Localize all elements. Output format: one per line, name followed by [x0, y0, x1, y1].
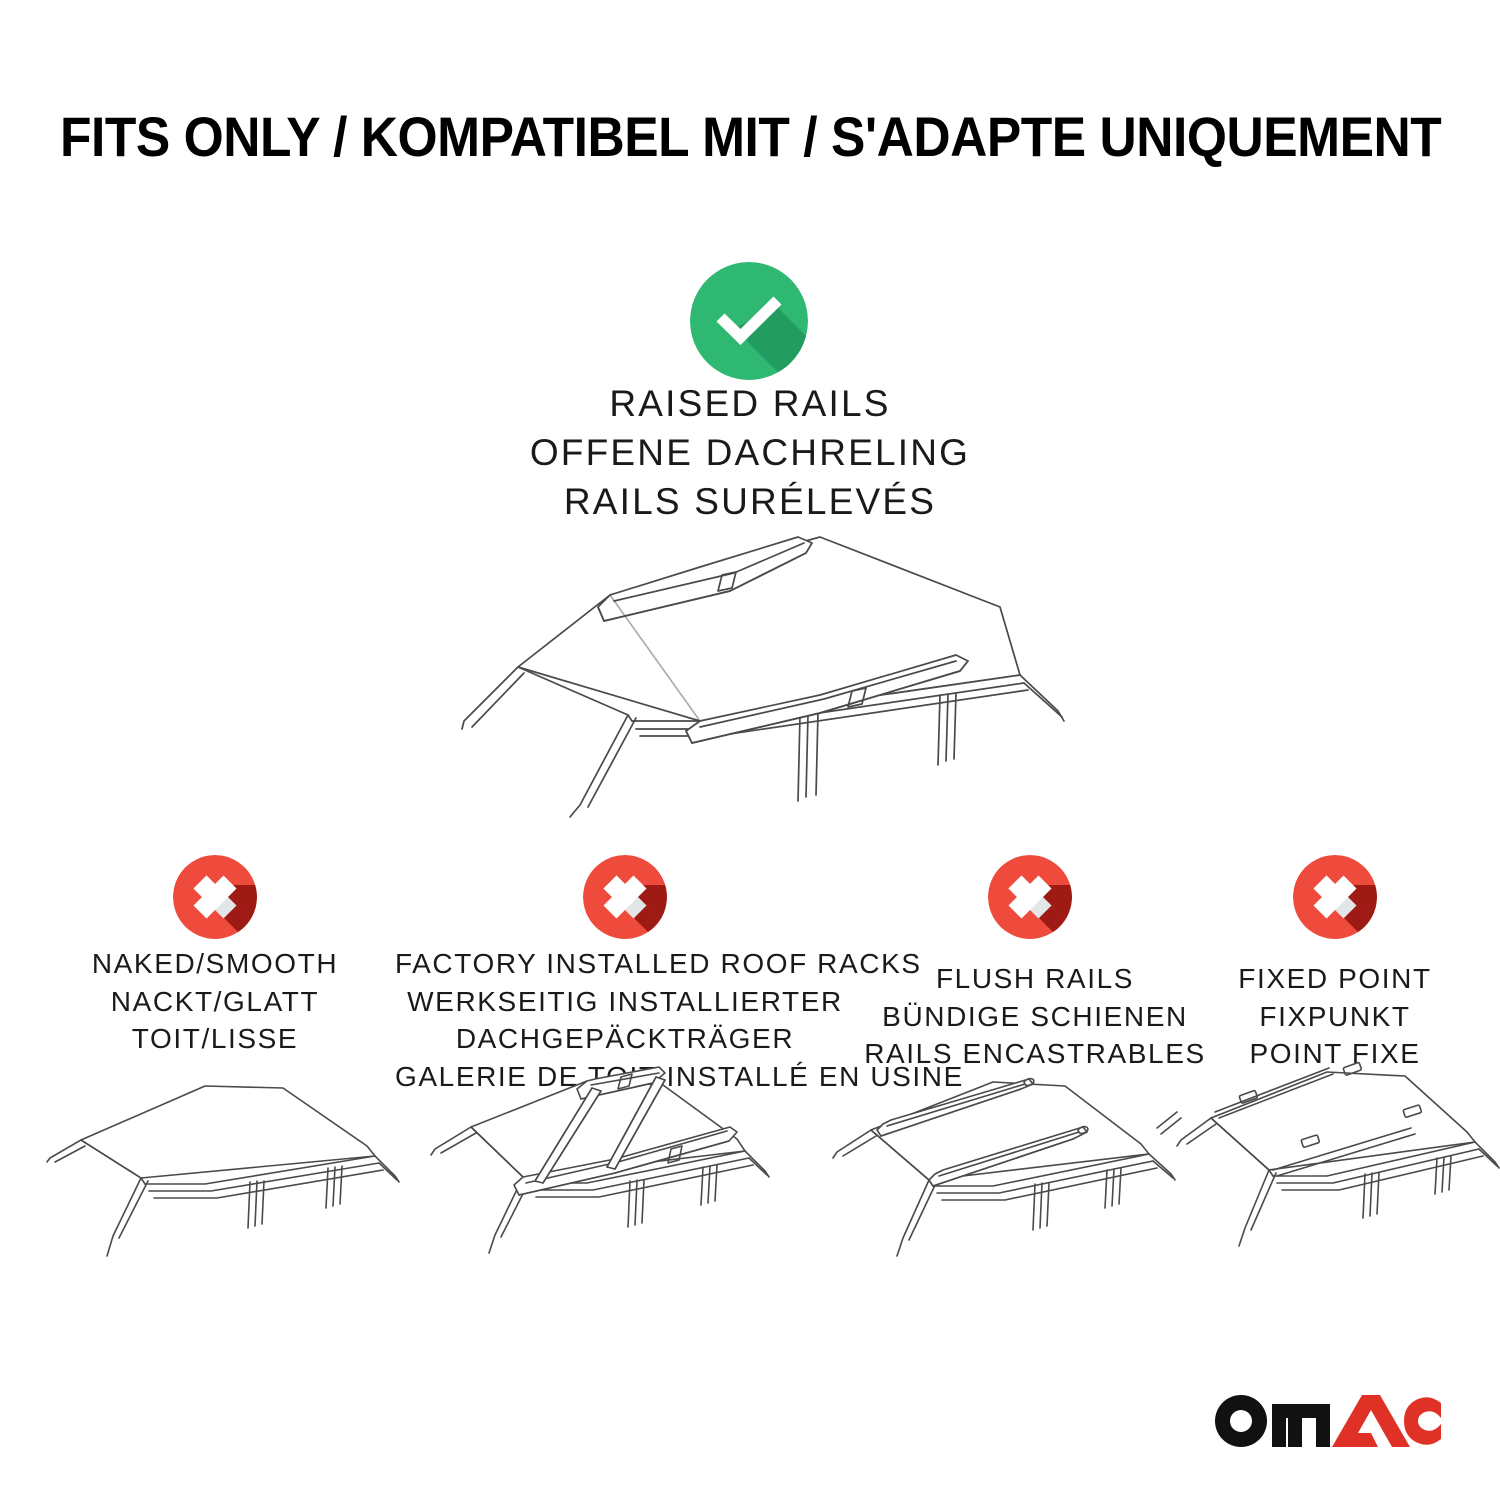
cross-circle-icon: [173, 855, 257, 939]
page-title: FITS ONLY / KOMPATIBEL MIT / S'ADAPTE UN…: [60, 104, 1440, 169]
check-circle-icon: [690, 262, 808, 380]
car-roof-flush-rails-illustration: [825, 1060, 1195, 1300]
compatible-option-label: RAISED RAILS OFFENE DACHRELING RAILS SUR…: [250, 380, 1250, 526]
omac-logo: [1210, 1386, 1442, 1448]
label-line: DACHGEPÄCKTRÄGER: [395, 1020, 855, 1058]
car-roof-fixed-point-illustration: [1175, 1060, 1500, 1300]
compatible-label-line-1: RAISED RAILS: [250, 380, 1250, 429]
check-circle-glyph: [690, 262, 808, 380]
incompatible-option-label-naked-smooth: NAKED/SMOOTH NACKT/GLATT TOIT/LISSE: [15, 945, 415, 1058]
label-line: FIXPUNKT: [1155, 998, 1500, 1036]
compatible-label-line-2: OFFENE DACHRELING: [250, 429, 1250, 478]
label-line: NAKED/SMOOTH: [15, 945, 415, 983]
label-line: WERKSEITIG INSTALLIERTER: [395, 983, 855, 1021]
cross-circle-icon: [583, 855, 667, 939]
car-roof-with-raised-rails-illustration: [400, 515, 1100, 825]
cross-circle-glyph: [173, 855, 257, 939]
label-line: TOIT/LISSE: [15, 1020, 415, 1058]
label-line: FACTORY INSTALLED ROOF RACKS: [395, 945, 855, 983]
car-roof-factory-installed-roof-racks-illustration: [415, 1055, 795, 1300]
label-line: FIXED POINT: [1155, 960, 1500, 998]
cross-circle-icon: [988, 855, 1072, 939]
omac-logo-glyph: [1210, 1386, 1442, 1448]
cross-circle-glyph: [988, 855, 1072, 939]
cross-circle-glyph: [1293, 855, 1377, 939]
car-roof-naked-smooth-illustration: [45, 1060, 405, 1300]
incompatible-option-label-fixed-point: FIXED POINT FIXPUNKT POINT FIXE: [1155, 960, 1500, 1073]
cross-circle-glyph: [583, 855, 667, 939]
cross-circle-icon: [1293, 855, 1377, 939]
label-line: NACKT/GLATT: [15, 983, 415, 1021]
